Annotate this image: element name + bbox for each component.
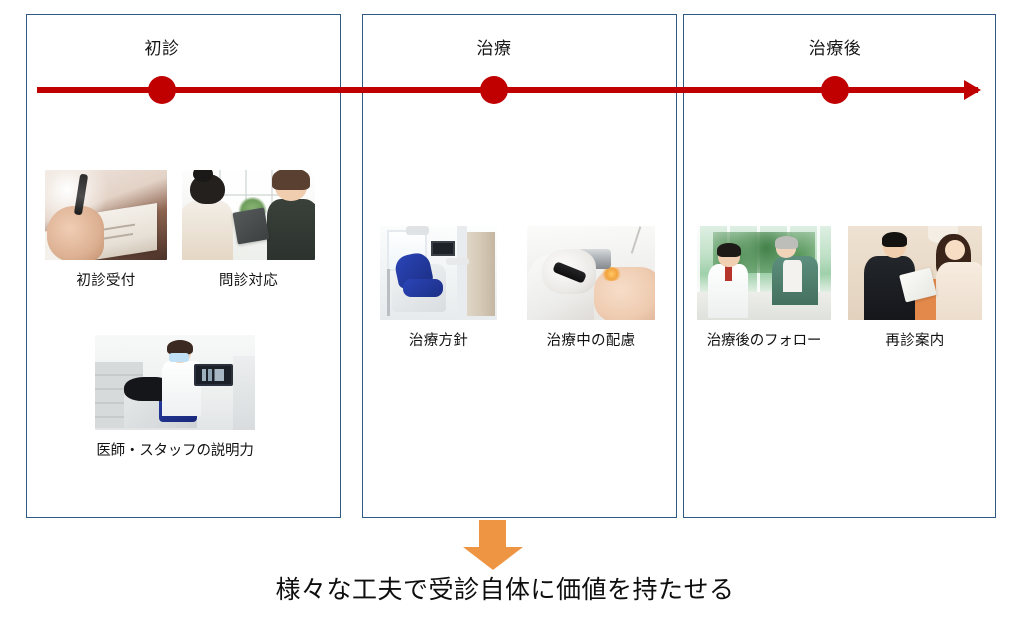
stage-item: 治療方針: [380, 226, 497, 350]
photo-dentist-explaining: [95, 335, 255, 430]
stage-item-caption: 初診受付: [45, 272, 167, 290]
photo-treatment-room: [380, 226, 497, 320]
stage-title-chiryogo: 治療後: [775, 38, 895, 60]
stage-item: 医師・スタッフの説明力: [95, 335, 255, 460]
photo-intake-form: [45, 170, 167, 260]
timeline-node-shoshin: [148, 76, 176, 104]
stage-item-caption: 治療方針: [380, 332, 497, 350]
stage-item: 問診対応: [182, 170, 315, 290]
timeline-node-chiryo: [480, 76, 508, 104]
stage-item: 治療後のフォロー: [697, 226, 831, 350]
photo-gloved-hand-device: [527, 226, 655, 320]
timeline-node-chiryogo: [821, 76, 849, 104]
photo-dentist-female-patient: [848, 226, 982, 320]
stage-item: 初診受付: [45, 170, 167, 290]
stage-title-chiryo: 治療: [434, 38, 554, 60]
summary-caption: 様々な工夫で受診自体に価値を持たせる: [0, 572, 1010, 608]
stage-title-shoshin: 初診: [102, 38, 222, 60]
down-arrow-icon: [463, 520, 523, 570]
stage-item: 再診案内: [848, 226, 982, 350]
stage-item-caption: 治療中の配慮: [527, 332, 655, 350]
stage-item: 治療中の配慮: [527, 226, 655, 350]
photo-doctor-elderly-patient: [697, 226, 831, 320]
stage-item-caption: 治療後のフォロー: [697, 332, 831, 350]
stage-item-caption: 問診対応: [182, 272, 315, 290]
photo-interview-tablet: [182, 170, 315, 260]
stage-item-caption: 医師・スタッフの説明力: [95, 442, 255, 460]
stage-item-caption: 再診案内: [848, 332, 982, 350]
diagram-canvas: 初診 治療 治療後 初診受付 問診対応 医師・スタッフの説明力: [0, 0, 1010, 623]
timeline-arrowhead-icon: [964, 80, 981, 100]
